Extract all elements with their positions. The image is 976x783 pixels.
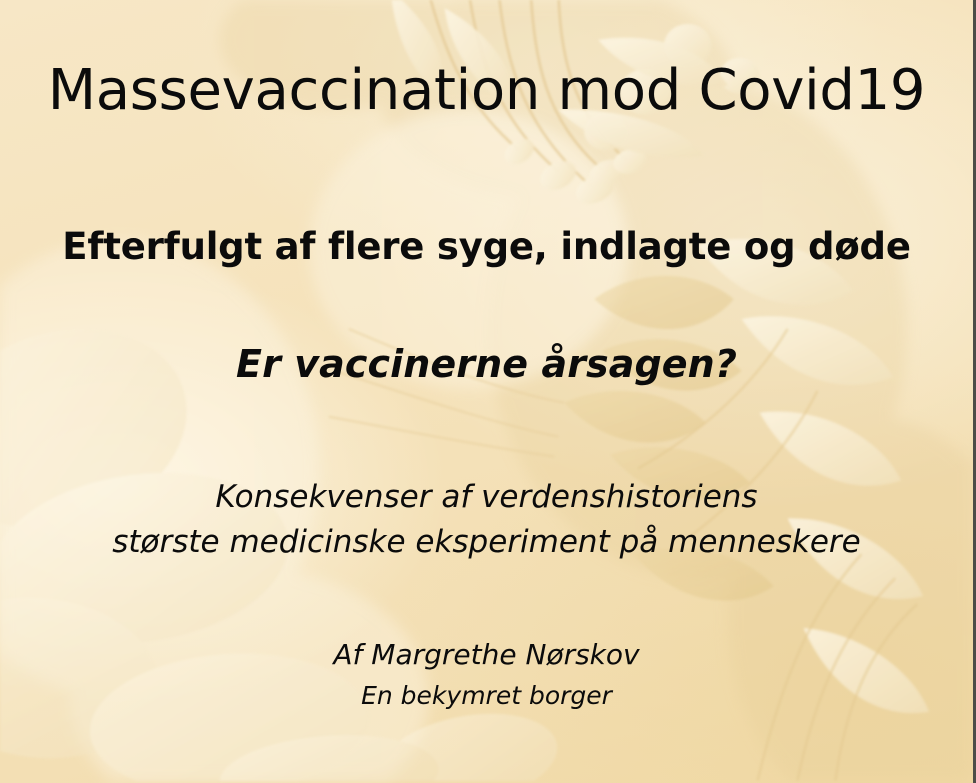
slide-subtitle: Efterfulgt af flere syge, indlagte og dø… <box>0 225 973 268</box>
slide-question-heading: Er vaccinerne årsagen? <box>0 342 973 386</box>
slide-lead-paragraph: Konsekvenser af verdenshistoriens størst… <box>0 475 973 566</box>
slide-byline: En bekymret borger <box>0 681 973 710</box>
slide-lead-line-2: største medicinske eksperiment på mennes… <box>0 520 973 565</box>
slide-content: Massevaccination mod Covid19 Efterfulgt … <box>0 0 973 783</box>
slide-author: Af Margrethe Nørskov <box>0 638 973 671</box>
presentation-slide: Massevaccination mod Covid19 Efterfulgt … <box>0 0 976 783</box>
slide-title: Massevaccination mod Covid19 <box>0 60 973 123</box>
slide-lead-line-1: Konsekvenser af verdenshistoriens <box>0 475 973 520</box>
